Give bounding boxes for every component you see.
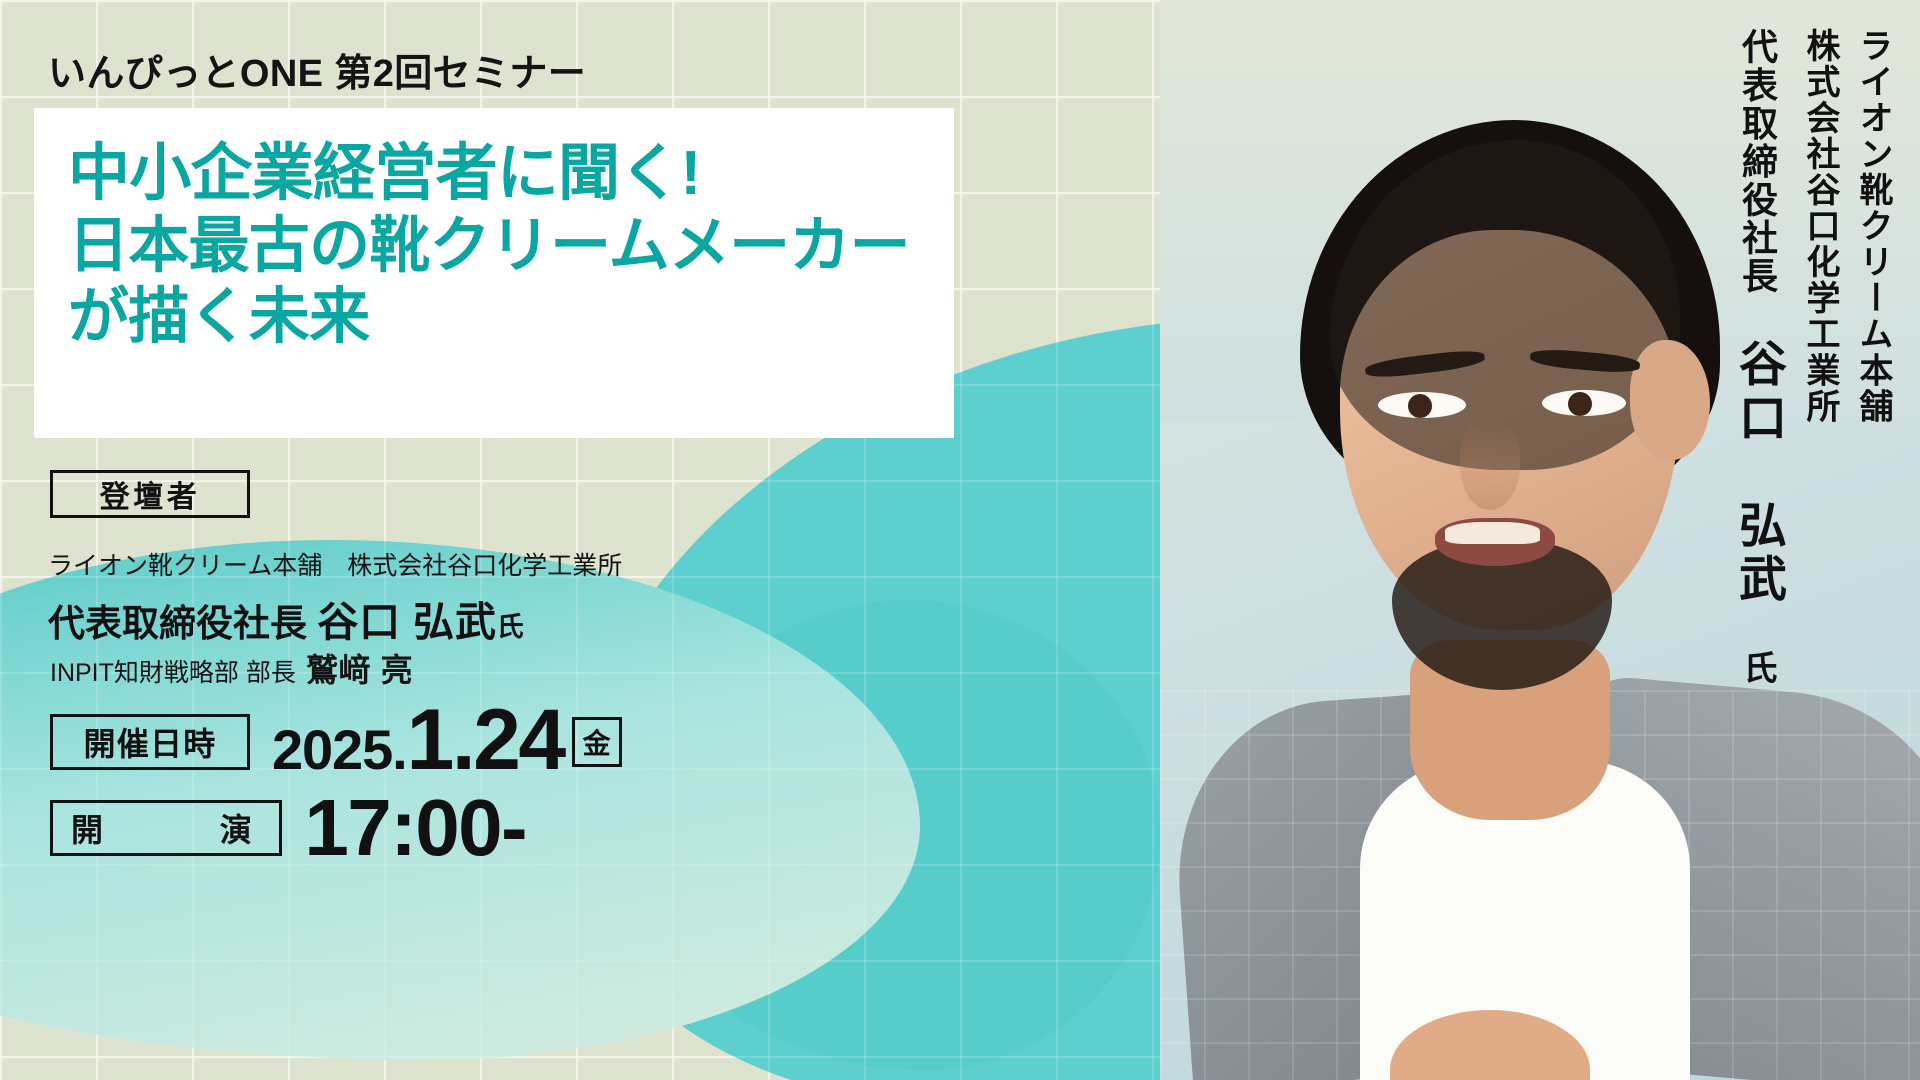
speakers-badge: 登壇者 — [50, 470, 250, 518]
event-date-year: 2025. — [272, 717, 407, 782]
event-day-of-week-badge: 金 — [572, 717, 622, 767]
photo-mouth — [1435, 518, 1555, 566]
vertical-speaker-title: 代表取締役社長 — [1737, 28, 1778, 295]
event-date-row: 開催日時 2025. 1.24 金 — [50, 702, 622, 782]
photo-eye-left — [1378, 392, 1466, 418]
photo-nose — [1460, 420, 1520, 510]
vertical-speaker-suffix: 氏 — [1738, 650, 1776, 686]
title-card: 中小企業経営者に聞く! 日本最古の靴クリームメーカー が描く未来 — [34, 108, 954, 438]
speaker-secondary: INPIT知財戦略部 部長 鷲﨑 亮 — [50, 645, 413, 691]
speaker-organization: ライオン靴クリーム本舗 株式会社谷口化学工業所 — [48, 546, 622, 582]
seminar-eyebrow: いんぴっとONE 第2回セミナー — [48, 42, 586, 97]
event-date-value: 2025. 1.24 — [272, 702, 564, 782]
title-line-1: 中小企業経営者に聞く! — [68, 138, 920, 210]
speaker-primary-title: 代表取締役社長 — [48, 603, 307, 644]
speaker-primary: 代表取締役社長 谷口 弘武氏 — [48, 588, 524, 648]
vertical-speaker-caption: ライオン靴クリーム本舗 株式会社谷口化学工業所 代表取締役社長 谷口 弘武 氏 — [1722, 28, 1898, 686]
photo-teeth — [1445, 522, 1540, 544]
speaker-primary-suffix: 氏 — [497, 612, 524, 642]
vertical-speaker-name: 谷口 弘武 — [1731, 338, 1784, 607]
title-line-3: が描く未来 — [68, 281, 920, 352]
vertical-company-brand: ライオン靴クリーム本舗 — [1849, 28, 1898, 424]
vertical-speaker-title-name: 代表取締役社長 谷口 弘武 氏 — [1722, 28, 1792, 686]
vertical-company-legal: 株式会社谷口化学工業所 — [1796, 28, 1845, 424]
title-line-2: 日本最古の靴クリームメーカー — [68, 210, 920, 281]
event-time-row: 開 演 17:00- — [50, 788, 526, 868]
photo-ear — [1630, 340, 1710, 460]
speaker-primary-name: 谷口 弘武 — [317, 599, 497, 645]
speaker-secondary-name: 鷲﨑 亮 — [306, 645, 413, 691]
event-time-value: 17:00- — [304, 788, 526, 868]
event-date-label: 開催日時 — [50, 714, 250, 770]
speaker-secondary-affiliation: INPIT知財戦略部 部長 — [50, 653, 296, 689]
photo-eye-right — [1542, 390, 1626, 416]
event-time-label: 開 演 — [50, 800, 282, 856]
event-date-monthday: 1.24 — [407, 702, 564, 779]
